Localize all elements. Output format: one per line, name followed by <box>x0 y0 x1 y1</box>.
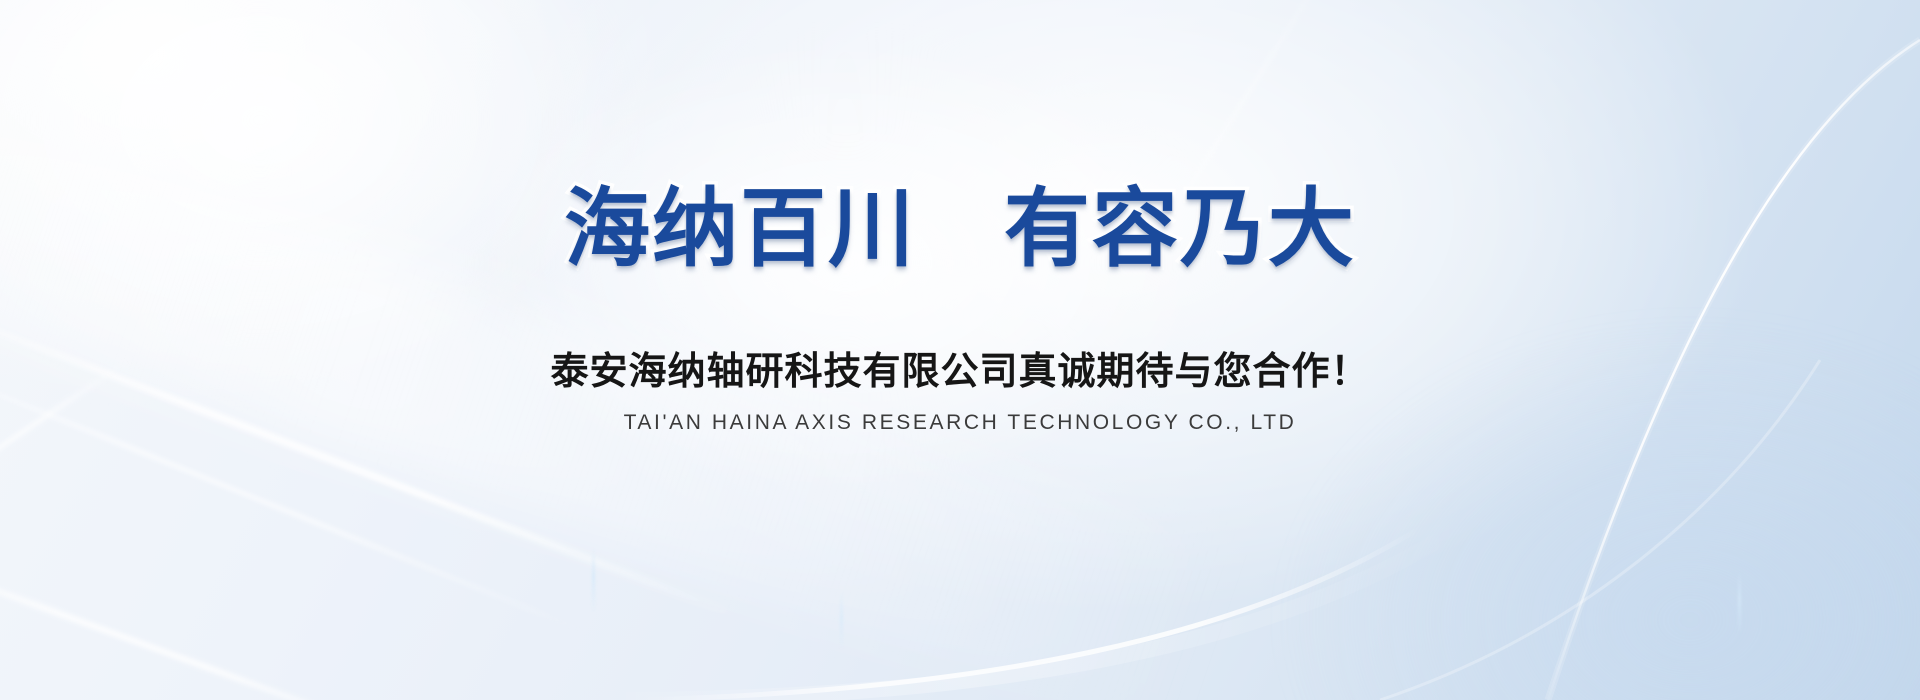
banner-subtitle-english: TAI'AN HAINA AXIS RESEARCH TECHNOLOGY CO… <box>624 410 1297 435</box>
banner-content: 海纳百川 有容乃大 泰安海纳轴研科技有限公司真诚期待与您合作！ TAI'AN H… <box>0 0 1920 700</box>
banner-subtitle-chinese: 泰安海纳轴研科技有限公司真诚期待与您合作！ <box>550 350 1369 396</box>
hero-banner: 海纳百川 有容乃大 泰安海纳轴研科技有限公司真诚期待与您合作！ TAI'AN H… <box>0 0 1920 700</box>
headline-part-1: 海纳百川 <box>564 181 916 277</box>
headline-part-2: 有容乃大 <box>1004 181 1356 277</box>
banner-headline: 海纳百川 有容乃大 <box>564 186 1356 272</box>
